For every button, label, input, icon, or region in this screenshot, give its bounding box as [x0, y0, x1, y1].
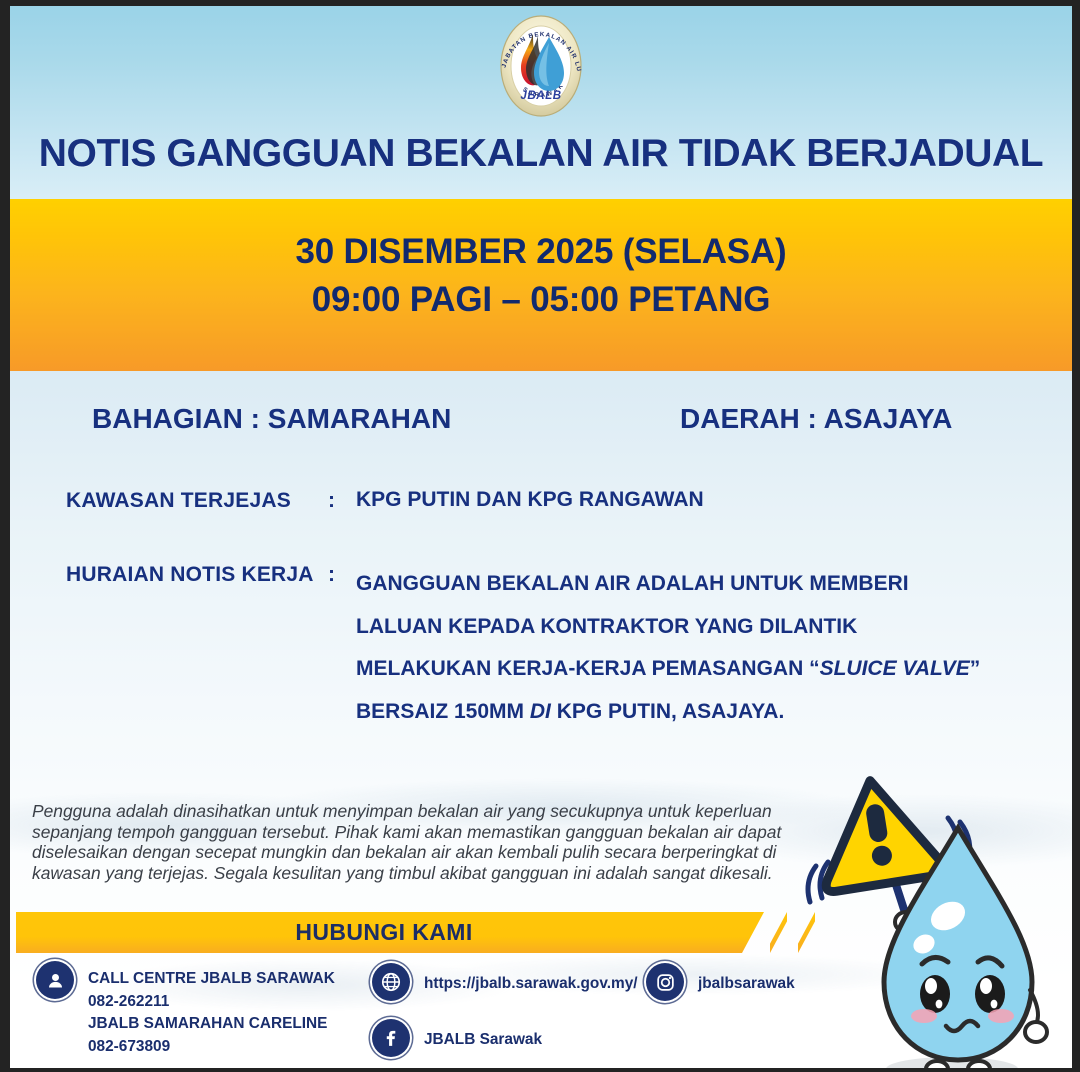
- notice-date: 30 DISEMBER 2025 (SELASA): [296, 232, 787, 272]
- poster-header: JABATAN BEKALAN AIR LUAR BANDAR SARAWAK …: [10, 6, 1072, 199]
- banner-slash-1: [770, 912, 787, 953]
- poster-body: BAHAGIAN : SAMARAHAN DAERAH : ASAJAYA KA…: [10, 371, 1072, 1068]
- work-description-line-1: GANGGUAN BEKALAN AIR ADALAH UNTUK MEMBER…: [356, 563, 1072, 606]
- affected-area-value: KPG PUTIN DAN KPG RANGAWAN: [356, 489, 1072, 513]
- careline-name: JBALB SAMARAHAN CARELINE: [88, 1013, 335, 1036]
- globe-icon: [372, 963, 410, 1001]
- work-description-line-3: MELAKUKAN KERJA-KERJA PEMASANGAN “SLUICE…: [356, 648, 1072, 691]
- work-description-line-4: BERSAIZ 150MM DI KPG PUTIN, ASAJAYA.: [356, 691, 1072, 734]
- jbalb-logo: JABATAN BEKALAN AIR LUAR BANDAR SARAWAK …: [489, 10, 593, 122]
- contact-banner-label: HUBUNGI KAMI: [10, 912, 758, 953]
- work-description-value: GANGGUAN BEKALAN AIR ADALAH UNTUK MEMBER…: [356, 563, 1072, 733]
- work-description-colon: :: [328, 563, 356, 733]
- disclaimer-text: Pengguna adalah dinasihatkan untuk menyi…: [32, 801, 784, 883]
- warning-triangle-sign: [811, 771, 945, 892]
- call-centre-item[interactable]: CALL CENTRE JBALB SARAWAK 082-262211 JBA…: [36, 961, 335, 1058]
- work-description-line-2: LALUAN KEPADA KONTRAKTOR YANG DILANTIK: [356, 606, 1072, 649]
- water-droplet-mascot: [800, 766, 1070, 1068]
- careline-phone[interactable]: 082-673809: [88, 1036, 335, 1059]
- division-label: BAHAGIAN : SAMARAHAN: [92, 403, 612, 435]
- work-description-field: HURAIAN NOTIS KERJA : GANGGUAN BEKALAN A…: [10, 563, 1072, 733]
- border-top: [0, 0, 1080, 6]
- svg-text:JBALB: JBALB: [520, 90, 561, 102]
- call-centre-phone[interactable]: 082-262211: [88, 991, 335, 1014]
- border-right: [1072, 0, 1080, 1072]
- border-left: [0, 0, 10, 1072]
- instagram-item[interactable]: jbalbsarawak: [646, 963, 795, 1001]
- work-description-label: HURAIAN NOTIS KERJA: [66, 563, 328, 733]
- date-time-band: 30 DISEMBER 2025 (SELASA) 09:00 PAGI – 0…: [10, 199, 1072, 371]
- facebook-icon: [372, 1019, 410, 1057]
- instagram-icon: [646, 963, 684, 1001]
- affected-area-colon: :: [328, 489, 356, 513]
- poster-canvas: JABATAN BEKALAN AIR LUAR BANDAR SARAWAK …: [10, 6, 1072, 1068]
- region-row: BAHAGIAN : SAMARAHAN DAERAH : ASAJAYA: [10, 403, 1072, 435]
- website-item[interactable]: https://jbalb.sarawak.gov.my/: [372, 963, 638, 1001]
- affected-area-label: KAWASAN TERJEJAS: [66, 489, 328, 513]
- website-url[interactable]: https://jbalb.sarawak.gov.my/: [424, 963, 638, 996]
- notice-time: 09:00 PAGI – 05:00 PETANG: [312, 280, 771, 320]
- instagram-handle[interactable]: jbalbsarawak: [698, 963, 795, 996]
- facebook-handle[interactable]: JBALB Sarawak: [424, 1019, 542, 1052]
- person-icon: [36, 961, 74, 999]
- call-centre-text: CALL CENTRE JBALB SARAWAK 082-262211 JBA…: [88, 961, 335, 1058]
- affected-area-field: KAWASAN TERJEJAS : KPG PUTIN DAN KPG RAN…: [10, 489, 1072, 513]
- notice-poster: JABATAN BEKALAN AIR LUAR BANDAR SARAWAK …: [0, 0, 1080, 1072]
- facebook-item[interactable]: JBALB Sarawak: [372, 1019, 542, 1057]
- page-title: NOTIS GANGGUAN BEKALAN AIR TIDAK BERJADU…: [10, 132, 1072, 176]
- district-label: DAERAH : ASAJAYA: [612, 403, 1016, 435]
- border-bottom: [0, 1068, 1080, 1072]
- call-centre-name: CALL CENTRE JBALB SARAWAK: [88, 968, 335, 991]
